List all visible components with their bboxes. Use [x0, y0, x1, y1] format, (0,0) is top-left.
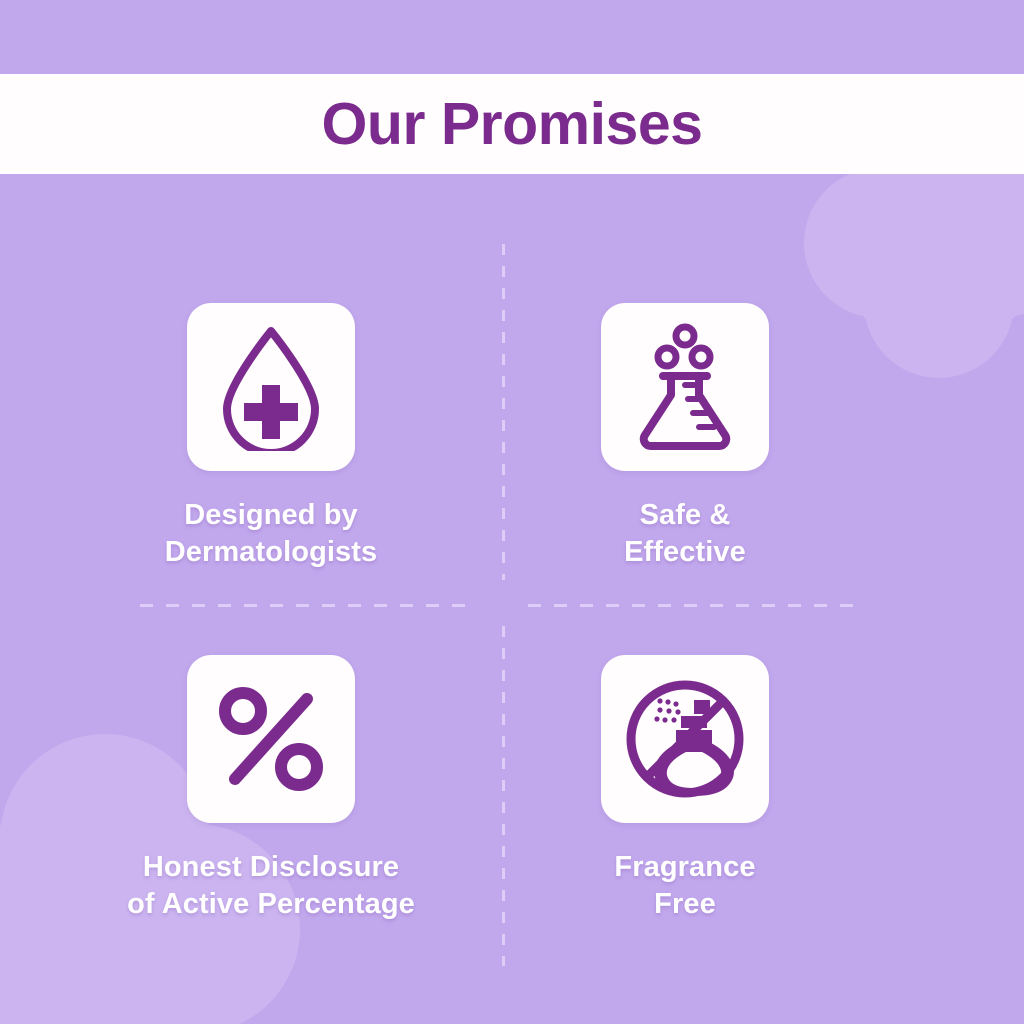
promise-label: Fragrance Free	[614, 849, 755, 922]
promise-item-honest-disclosure: Honest Disclosure of Active Percentage	[56, 655, 486, 922]
promise-item-safe-and-effective: Safe & Effective	[470, 303, 900, 570]
promise-item-fragrance-free: Fragrance Free	[470, 655, 900, 922]
header-band: Our Promises	[0, 74, 1024, 174]
promise-label: Safe & Effective	[624, 497, 746, 570]
icon-card	[601, 303, 769, 471]
promise-label: Honest Disclosure of Active Percentage	[127, 849, 415, 922]
no-fragrance-spray-icon	[624, 678, 746, 800]
promises-grid: Designed by Dermatologists	[0, 174, 1024, 1024]
promise-label: Designed by Dermatologists	[165, 497, 378, 570]
percent-icon	[215, 683, 327, 795]
promise-item-designed-by-dermatologists: Designed by Dermatologists	[56, 303, 486, 570]
water-drop-plus-icon	[213, 323, 329, 451]
icon-card	[187, 655, 355, 823]
page-title: Our Promises	[322, 95, 703, 154]
lab-flask-icon	[629, 323, 741, 451]
icon-card	[601, 655, 769, 823]
promises-poster: Our Promises Designed by Dermatologists	[0, 0, 1024, 1024]
icon-card	[187, 303, 355, 471]
